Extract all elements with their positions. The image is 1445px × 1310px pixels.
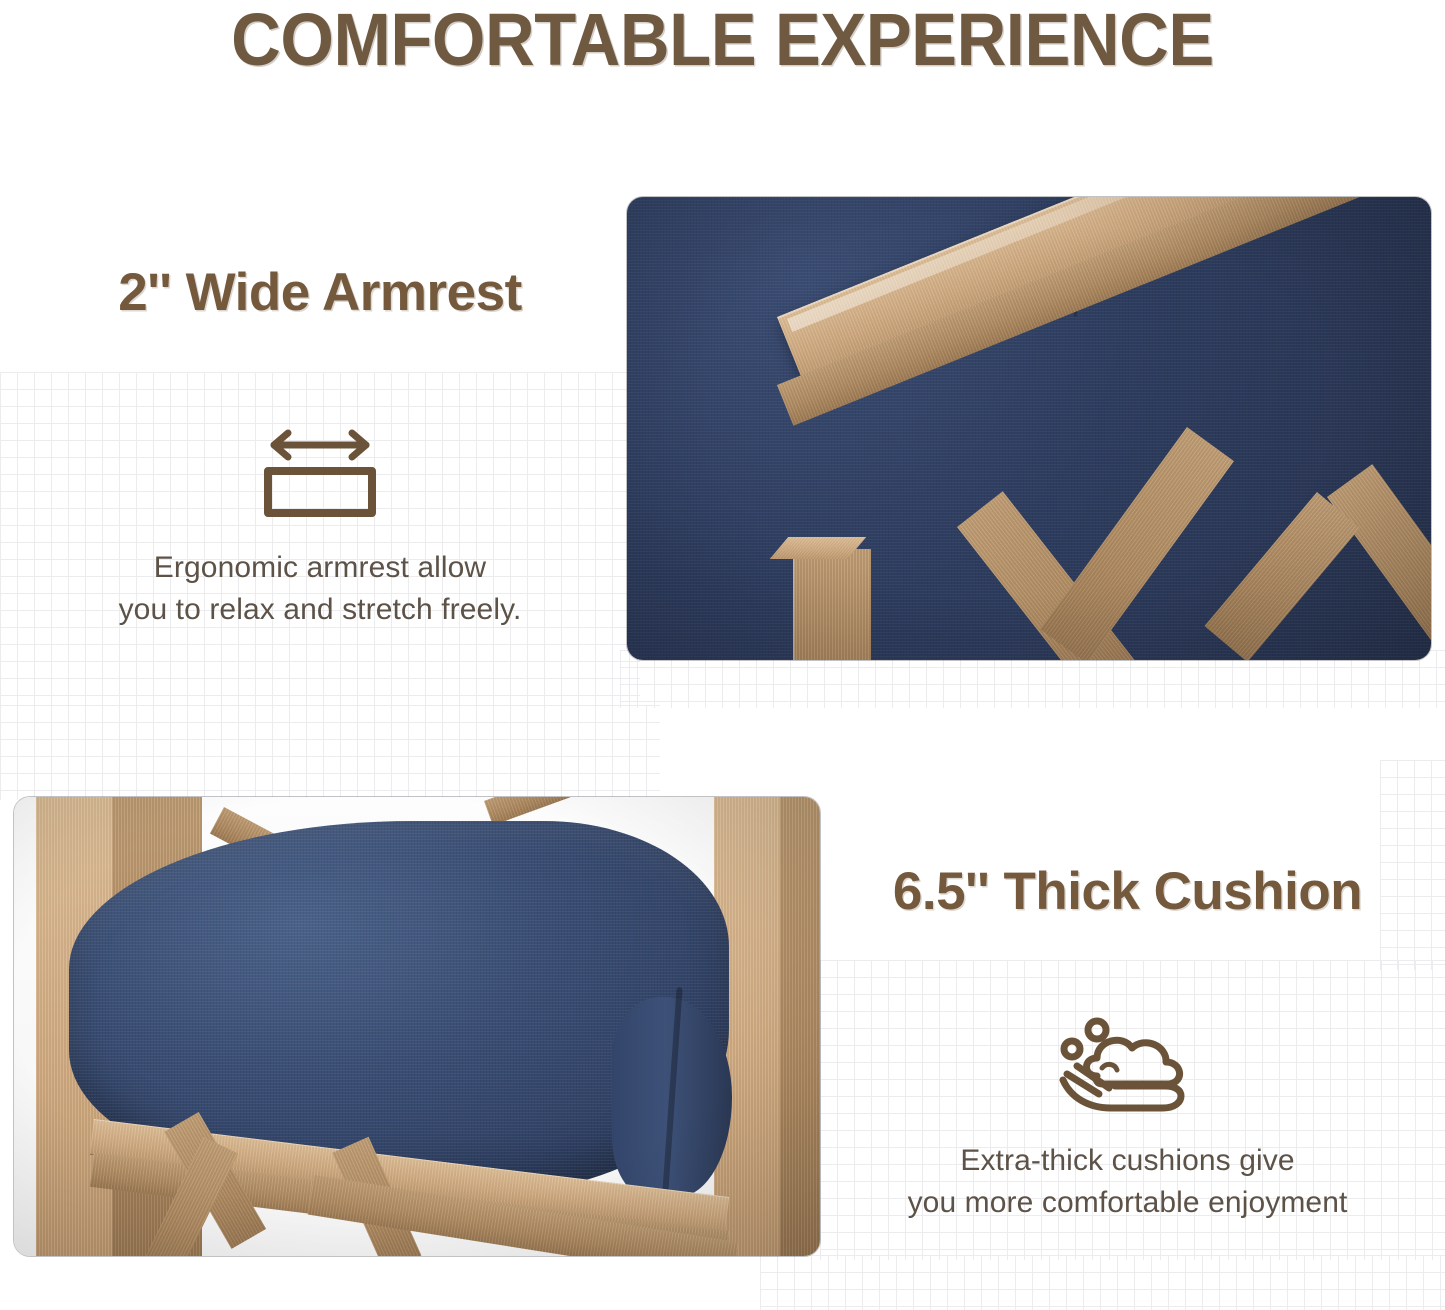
feature-block-cushion: 6.5'' Thick Cushion Extra-thick cushions…	[810, 862, 1445, 1224]
grid-background-patch	[760, 1255, 1445, 1310]
feature-title-cushion: 6.5'' Thick Cushion	[810, 862, 1445, 922]
feature-block-armrest: 2'' Wide Armrest Ergonomic armrest allow…	[0, 263, 640, 631]
feature-description-cushion: Extra-thick cushions give you more comfo…	[810, 1140, 1445, 1224]
armrest-closeup-photo	[627, 197, 1431, 660]
hand-holding-cloud-icon	[1053, 1014, 1203, 1116]
grid-background-patch	[0, 705, 660, 800]
feature-description-line: you to relax and stretch freely.	[0, 589, 640, 631]
infographic-page: COMFORTABLE EXPERIENCE	[0, 0, 1445, 1310]
cushion-closeup-photo	[14, 797, 820, 1256]
feature-title-armrest: 2'' Wide Armrest	[0, 263, 640, 323]
feature-description-line: you more comfortable enjoyment	[810, 1182, 1445, 1224]
width-measure-icon	[250, 425, 390, 521]
feature-description-line: Ergonomic armrest allow	[0, 547, 640, 589]
page-title: COMFORTABLE EXPERIENCE	[51, 0, 1395, 80]
feature-description-line: Extra-thick cushions give	[810, 1140, 1445, 1182]
feature-description-armrest: Ergonomic armrest allow you to relax and…	[0, 547, 640, 631]
